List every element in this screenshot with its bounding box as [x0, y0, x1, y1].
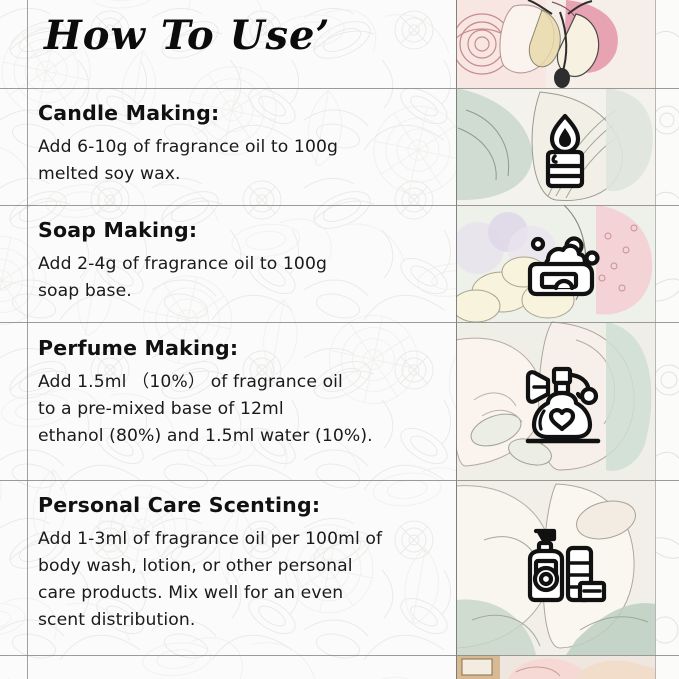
section-body-soap-making: Add 2-4g of fragrance oil to 100g soap b… — [38, 251, 446, 305]
left-margin-rule — [27, 0, 28, 679]
body-line: body wash, lotion, or other personal — [38, 553, 446, 580]
body-line: Add 6-10g of fragrance oil to 100g — [38, 134, 446, 161]
body-line: ethanol (80%) and 1.5ml water (10%). — [38, 423, 446, 450]
section-heading-soap-making: Soap Making: — [38, 218, 446, 242]
divider-above-perfume-making — [0, 322, 679, 323]
page-title-flourish: ’ — [315, 12, 330, 59]
section-heading-candle-making: Candle Making: — [38, 101, 446, 125]
how-to-use-infographic: How To Use’ Candle Making: Add 6-10g of … — [0, 0, 679, 679]
section-personal-care-scenting: Personal Care Scenting: Add 1-3ml of fra… — [38, 493, 446, 634]
body-line: soap base. — [38, 278, 446, 305]
body-line: to a pre-mixed base of 12ml — [38, 396, 446, 423]
body-line: care products. Mix well for an even — [38, 580, 446, 607]
right-margin-rule — [655, 0, 656, 679]
section-body-personal-care-scenting: Add 1-3ml of fragrance oil per 100ml of … — [38, 526, 446, 634]
column-divider-rule — [456, 0, 457, 679]
divider-above-soap-making — [0, 205, 679, 206]
section-heading-perfume-making: Perfume Making: — [38, 336, 446, 360]
divider-below-personal-care — [0, 655, 679, 656]
body-line: Add 1-3ml of fragrance oil per 100ml of — [38, 526, 446, 553]
lotion-bottles-icon — [510, 522, 620, 608]
section-soap-making: Soap Making: Add 2-4g of fragrance oil t… — [38, 218, 446, 305]
soap-bar-icon — [510, 228, 620, 314]
body-line: Add 2-4g of fragrance oil to 100g — [38, 251, 446, 278]
divider-above-candle-making — [0, 88, 679, 89]
section-body-perfume-making: Add 1.5ml （10%） of fragrance oil to a pr… — [38, 369, 446, 450]
body-line: scent distribution. — [38, 607, 446, 634]
section-heading-personal-care-scenting: Personal Care Scenting: — [38, 493, 446, 517]
perfume-bottle-icon — [510, 362, 620, 448]
section-perfume-making: Perfume Making: Add 1.5ml （10%） of fragr… — [38, 336, 446, 450]
body-line: melted soy wax. — [38, 161, 446, 188]
candle-icon — [510, 108, 620, 194]
right-margin-background — [655, 0, 679, 679]
body-line: Add 1.5ml （10%） of fragrance oil — [38, 369, 446, 396]
divider-above-personal-care — [0, 480, 679, 481]
page-title-text: How To Use — [44, 12, 315, 59]
section-body-candle-making: Add 6-10g of fragrance oil to 100g melte… — [38, 134, 446, 188]
section-candle-making: Candle Making: Add 6-10g of fragrance oi… — [38, 101, 446, 188]
page-title: How To Use’ — [44, 12, 330, 59]
